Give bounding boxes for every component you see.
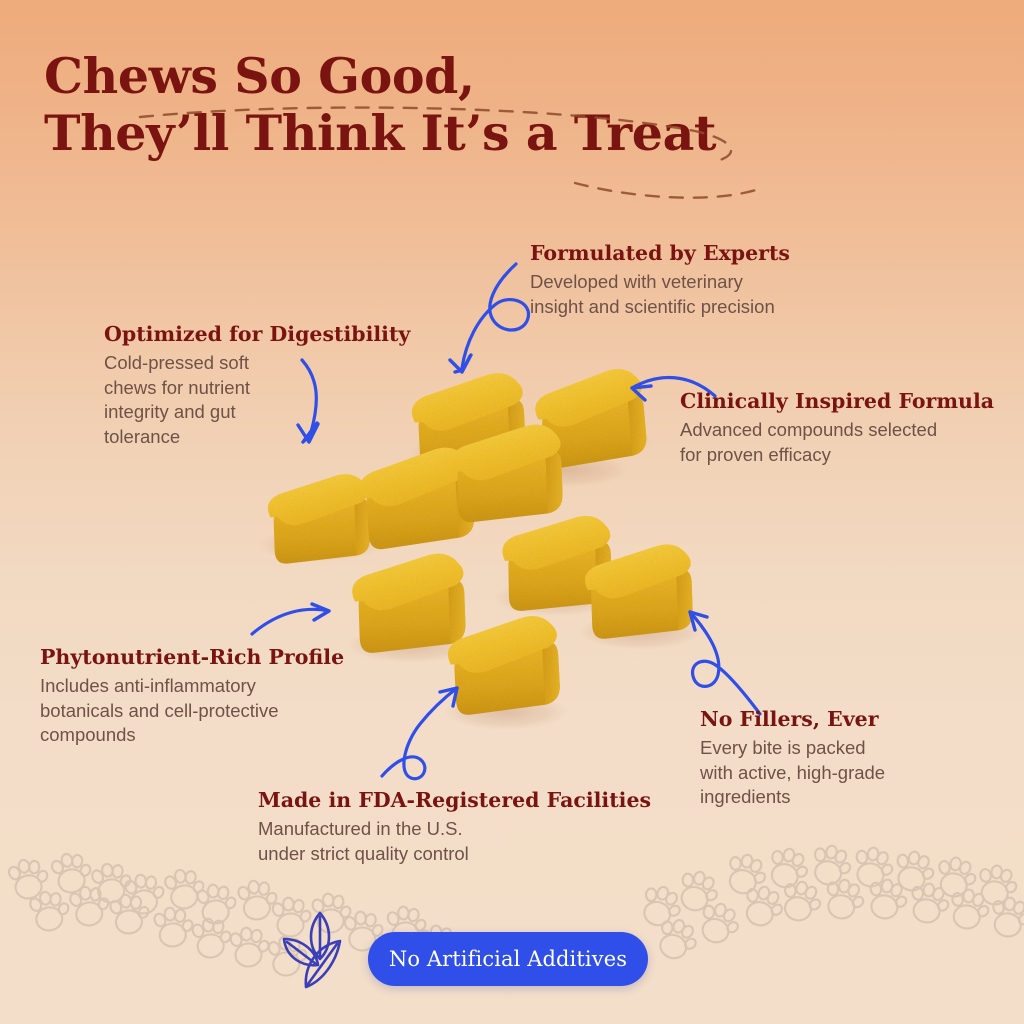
callout-made-in-fda-registered-facilities: Made in FDA-Registered Facilities Manufa…	[258, 788, 651, 866]
callout-heading: Made in FDA-Registered Facilities	[258, 788, 651, 812]
badge-label: No Artificial Additives	[389, 947, 627, 971]
callout-heading: Formulated by Experts	[530, 241, 790, 265]
callout-heading: Phytonutrient-Rich Profile	[40, 645, 344, 669]
callout-body: Includes anti-inflammatory botanicals an…	[40, 674, 344, 748]
callout-body: Cold-pressed soft chews for nutrient int…	[104, 351, 410, 449]
callout-clinically-inspired-formula: Clinically Inspired Formula Advanced com…	[680, 389, 994, 467]
callout-heading: Clinically Inspired Formula	[680, 389, 994, 413]
infographic-canvas: Chews So Good, They’ll Think It’s a Trea…	[0, 0, 1024, 1024]
callout-phytonutrient-rich-profile: Phytonutrient-Rich Profile Includes anti…	[40, 645, 344, 748]
leaf-icon	[270, 905, 370, 1005]
callout-heading: No Fillers, Ever	[700, 707, 885, 731]
callout-body: Developed with veterinary insight and sc…	[530, 270, 790, 319]
callout-body: Advanced compounds selected for proven e…	[680, 418, 994, 467]
no-artificial-additives-badge[interactable]: No Artificial Additives	[368, 932, 648, 986]
callout-body: Every bite is packed with active, high-g…	[700, 736, 885, 810]
callout-formulated-by-experts: Formulated by Experts Developed with vet…	[530, 241, 790, 319]
page-title: Chews So Good, They’ll Think It’s a Trea…	[44, 48, 716, 162]
callout-no-fillers-ever: No Fillers, Ever Every bite is packed wi…	[700, 707, 885, 810]
callout-body: Manufactured in the U.S. under strict qu…	[258, 817, 651, 866]
callout-optimized-for-digestibility: Optimized for Digestibility Cold-pressed…	[104, 322, 410, 450]
callout-heading: Optimized for Digestibility	[104, 322, 410, 346]
